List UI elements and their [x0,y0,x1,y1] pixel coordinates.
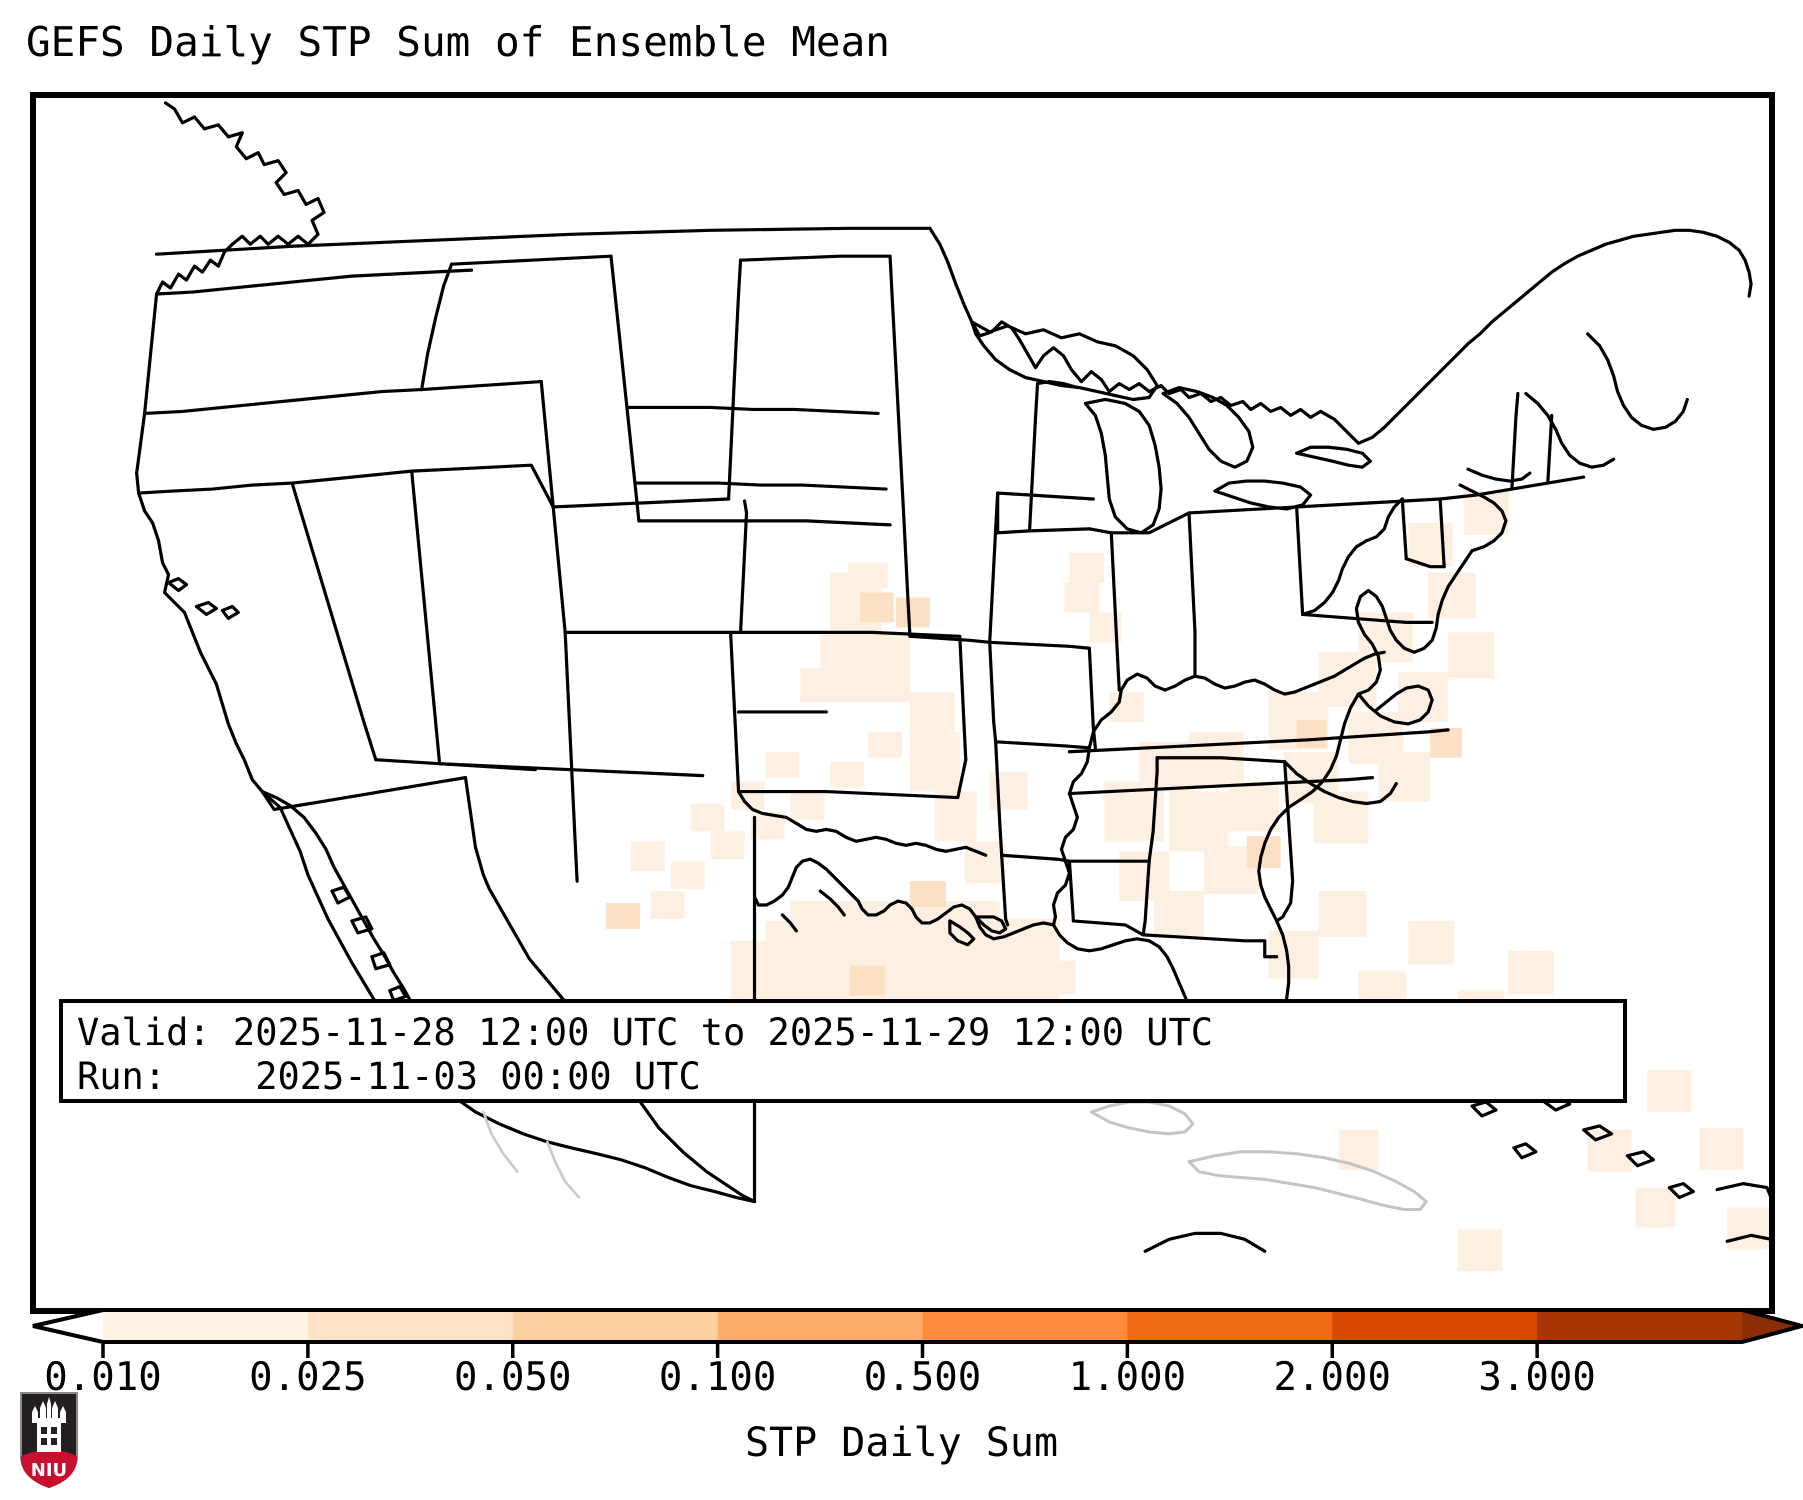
colorbar-band [103,1310,308,1342]
colorbar-extend-min [33,1310,103,1342]
colorbar-tick-label: 0.100 [659,1355,776,1400]
colorbar-tick-label: 0.025 [249,1355,366,1400]
map-axes [30,92,1775,1314]
page-title: GEFS Daily STP Sum of Ensemble Mean [26,18,890,66]
colorbar-tick-label: 3.000 [1478,1355,1595,1400]
run-time-line: Run: 2025-11-03 00:00 UTC [77,1055,1609,1099]
colorbar-band [1537,1310,1742,1342]
colorbar-tick-label: 2.000 [1274,1355,1391,1400]
colorbar-band [923,1310,1128,1342]
colorbar-axis-label: STP Daily Sum [0,1420,1803,1466]
colorbar-band [718,1310,923,1342]
niu-logo-text: NIU [31,1460,67,1481]
colorbar-band [513,1310,718,1342]
colorbar[interactable] [0,1300,1803,1360]
colorbar-tick-label: 1.000 [1069,1355,1186,1400]
conus-map [33,95,1772,1311]
map-frame [34,96,1770,1309]
niu-logo: NIU [18,1390,80,1490]
shaded-data-cells [606,491,1771,1271]
figure-canvas: GEFS Daily STP Sum of Ensemble Mean [0,0,1803,1500]
colorbar-svg [0,1300,1803,1360]
colorbar-tick-label: 0.500 [864,1355,981,1400]
valid-run-info-box: Valid: 2025-11-28 12:00 UTC to 2025-11-2… [59,999,1627,1103]
valid-time-line: Valid: 2025-11-28 12:00 UTC to 2025-11-2… [77,1011,1609,1055]
colorbar-tick-labels: 0.0100.0250.0500.1000.5001.0002.0003.000 [0,1355,1803,1405]
colorbar-band [308,1310,513,1342]
colorbar-band [1127,1310,1332,1342]
niu-shield-icon: NIU [18,1390,80,1490]
colorbar-tick-label: 0.050 [454,1355,571,1400]
colorbar-bands [33,1310,1802,1342]
colorbar-band [1332,1310,1537,1342]
colorbar-extend-max [1742,1310,1802,1342]
